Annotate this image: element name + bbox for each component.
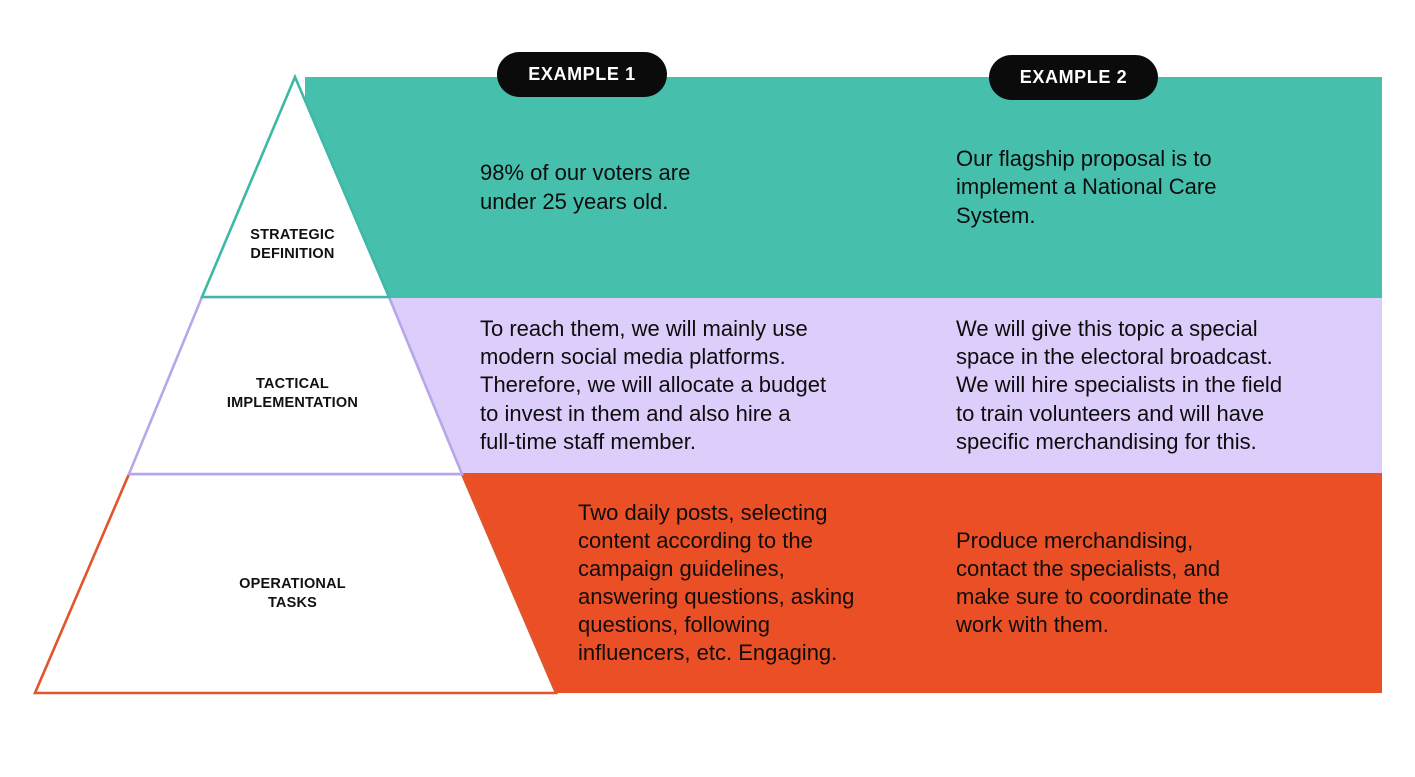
- cell-tactical-example-2: We will give this topic a special space …: [942, 298, 1382, 473]
- cell-strategic-example-1-text: 98% of our voters are under 25 years old…: [305, 159, 704, 215]
- cell-tactical-example-1-text: To reach them, we will mainly use modern…: [305, 315, 840, 456]
- cell-strategic-example-2: Our flagship proposal is to implement a …: [942, 77, 1382, 298]
- row-tactical-implementation: To reach them, we will mainly use modern…: [305, 298, 1382, 473]
- cell-strategic-example-2-text: Our flagship proposal is to implement a …: [942, 145, 1230, 229]
- row-strategic-definition: 98% of our voters are under 25 years old…: [305, 77, 1382, 298]
- header-pill-example-1: EXAMPLE 1: [497, 52, 667, 97]
- cell-operational-example-1: Two daily posts, selecting content accor…: [305, 473, 935, 693]
- cell-tactical-example-1: To reach them, we will mainly use modern…: [305, 298, 935, 473]
- cell-operational-example-2-text: Produce merchandising, contact the speci…: [942, 527, 1243, 640]
- cell-operational-example-2: Produce merchandising, contact the speci…: [942, 473, 1382, 693]
- header-pill-example-2: EXAMPLE 2: [989, 55, 1158, 100]
- row-operational-tasks: Two daily posts, selecting content accor…: [305, 473, 1382, 693]
- pyramid-comparison-diagram: 98% of our voters are under 25 years old…: [0, 0, 1415, 777]
- cell-operational-example-1-text: Two daily posts, selecting content accor…: [305, 499, 868, 668]
- cell-strategic-example-1: 98% of our voters are under 25 years old…: [305, 77, 935, 298]
- cell-tactical-example-2-text: We will give this topic a special space …: [942, 315, 1296, 456]
